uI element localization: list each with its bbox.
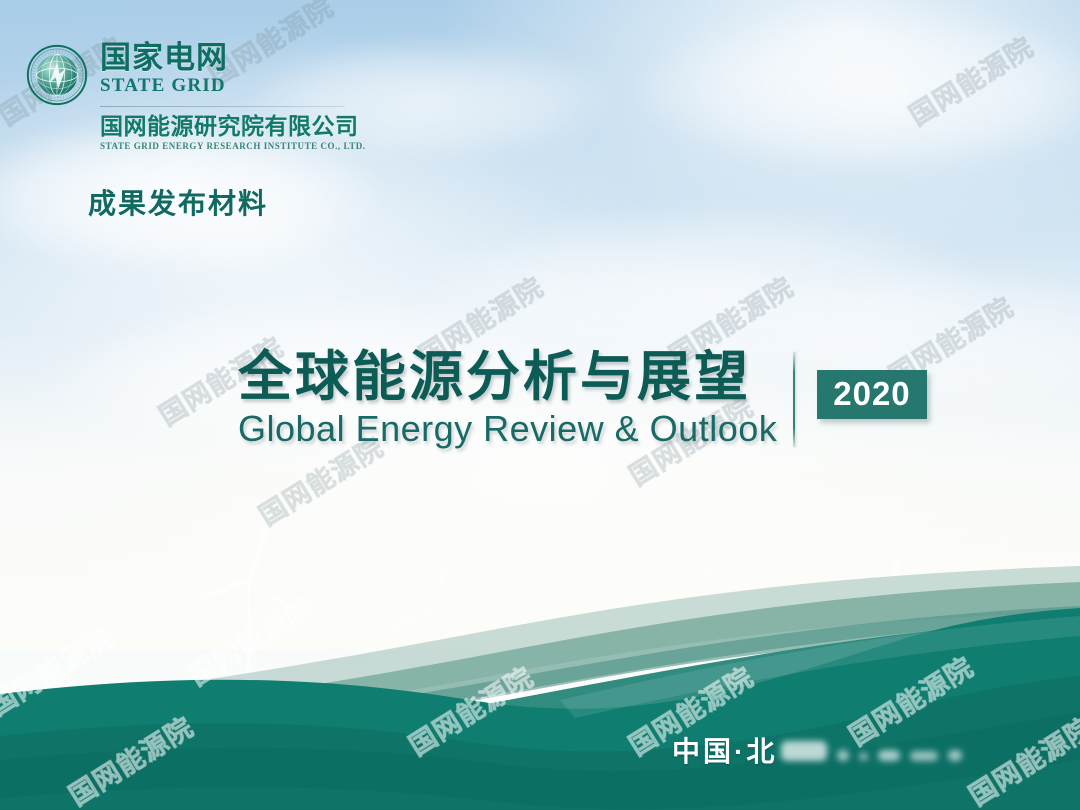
redaction-block xyxy=(910,751,938,761)
brand-divider xyxy=(100,106,345,107)
institute-name-en: STATE GRID ENERGY RESEARCH INSTITUTE CO.… xyxy=(100,141,366,153)
title-group: 全球能源分析与展望 Global Energy Review & Outlook… xyxy=(238,348,927,449)
year-badge: 2020 xyxy=(817,370,926,419)
company-name-cn: 国家电网 xyxy=(100,42,366,74)
brand-text-stack: 国家电网 STATE GRID 国网能源研究院有限公司 STATE GRID E… xyxy=(100,42,366,153)
redaction-block xyxy=(859,752,868,761)
redaction-block xyxy=(781,741,827,761)
footer-redacted-text xyxy=(781,741,962,761)
footer-group: 中国·北 xyxy=(672,730,962,770)
institute-name-cn: 国网能源研究院有限公司 xyxy=(100,114,366,139)
footer-location: 中国·北 xyxy=(672,730,777,770)
page-title: 全球能源分析与展望 xyxy=(238,348,777,406)
title-text-stack: 全球能源分析与展望 Global Energy Review & Outlook xyxy=(238,348,777,449)
page-subtitle: Global Energy Review & Outlook xyxy=(238,409,777,449)
company-name-en: STATE GRID xyxy=(100,75,366,97)
title-slide: 国网能源院 国网能源院 国网能源院 国网能源院 国网能源院 国网能源院 国网能源… xyxy=(0,0,1080,810)
kicker-label: 成果发布材料 xyxy=(88,182,268,222)
state-grid-globe-emblem-icon xyxy=(26,44,88,106)
brand-lockup: 国家电网 STATE GRID 国网能源研究院有限公司 STATE GRID E… xyxy=(26,42,366,153)
redaction-block xyxy=(878,750,900,761)
redaction-block xyxy=(948,750,962,761)
redaction-block xyxy=(837,750,849,761)
title-divider xyxy=(793,352,795,447)
